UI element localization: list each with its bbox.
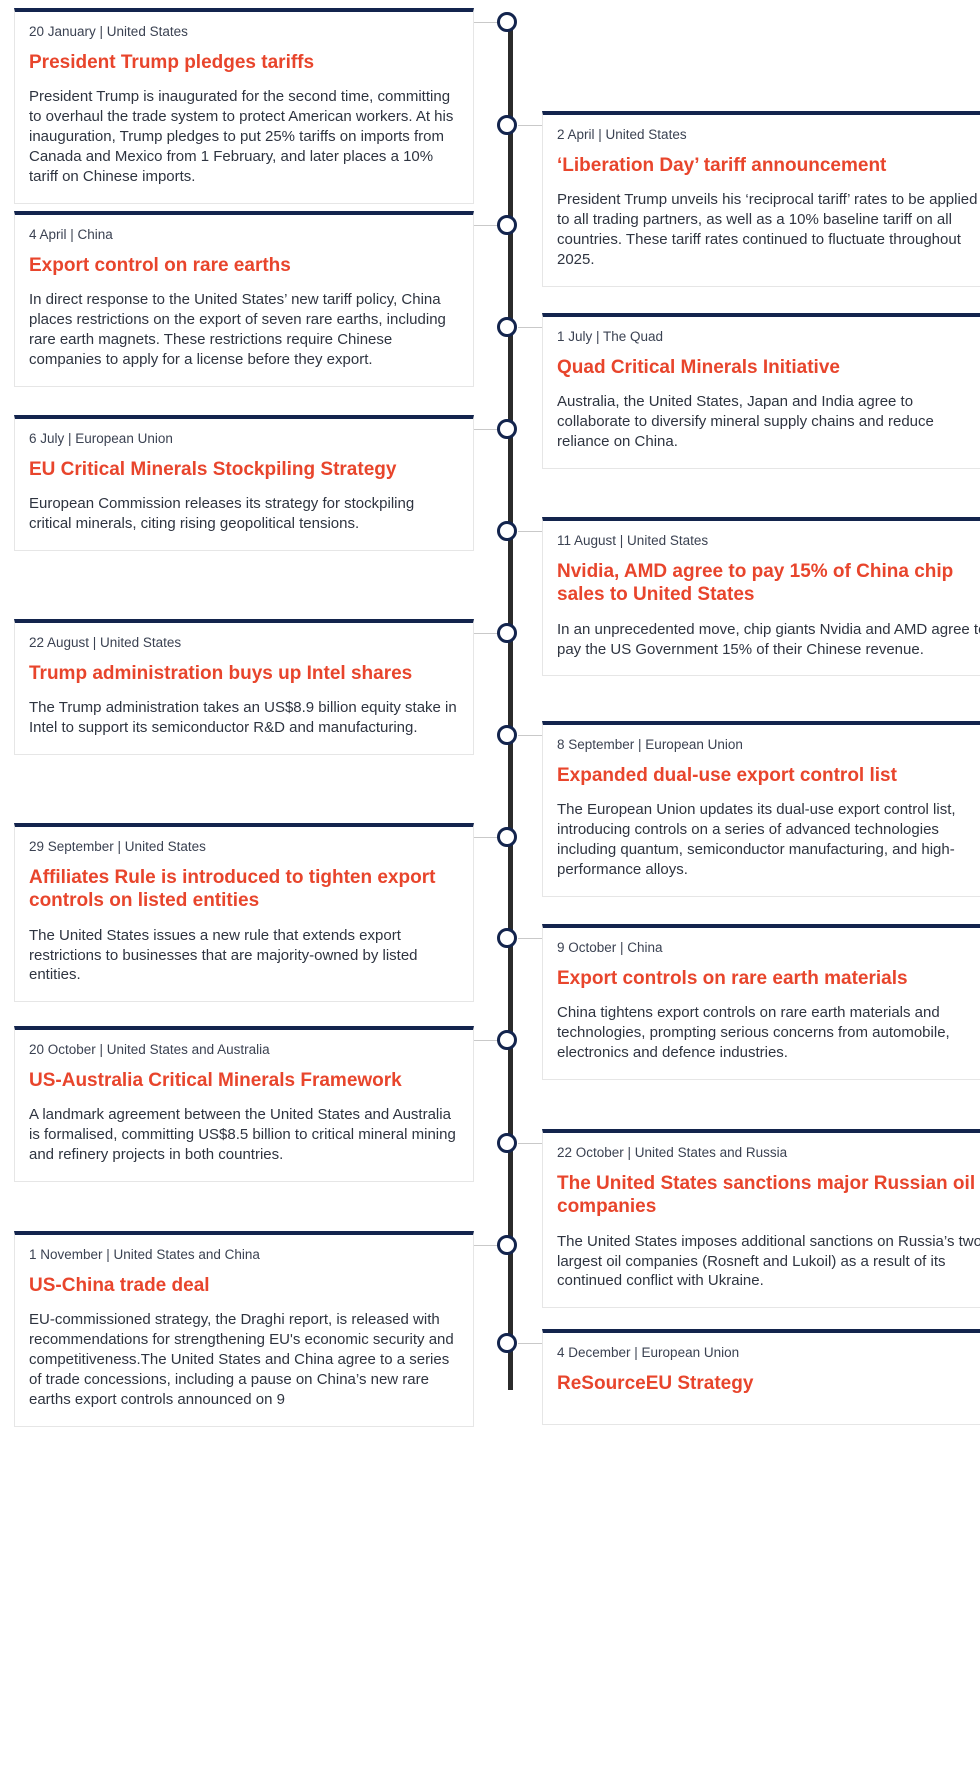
- card-title: Export control on rare earths: [29, 254, 459, 277]
- timeline-card[interactable]: 6 July | European Union EU Critical Mine…: [14, 415, 474, 551]
- timeline-card[interactable]: 2 April | United States ‘Liberation Day’…: [542, 111, 980, 287]
- timeline-card[interactable]: 8 September | European Union Expanded du…: [542, 721, 980, 897]
- timeline-node[interactable]: [497, 419, 517, 439]
- timeline-node[interactable]: [497, 1133, 517, 1153]
- card-body: The Trump administration takes an US$8.9…: [29, 698, 459, 738]
- node-connector: [518, 125, 542, 126]
- timeline-node[interactable]: [497, 827, 517, 847]
- card-title: ‘Liberation Day’ tariff announcement: [557, 154, 980, 177]
- card-body: The United States imposes additional san…: [557, 1232, 980, 1292]
- timeline-node[interactable]: [497, 115, 517, 135]
- timeline-card[interactable]: 1 November | United States and China US-…: [14, 1231, 474, 1427]
- timeline-node[interactable]: [497, 1235, 517, 1255]
- timeline-node[interactable]: [497, 215, 517, 235]
- node-connector: [518, 938, 542, 939]
- timeline-node[interactable]: [497, 317, 517, 337]
- card-meta: 29 September | United States: [29, 838, 459, 856]
- card-meta: 11 August | United States: [557, 532, 980, 550]
- timeline-node[interactable]: [497, 1333, 517, 1353]
- card-body: President Trump unveils his ‘reciprocal …: [557, 190, 980, 270]
- card-title: ReSourceEU Strategy: [557, 1372, 980, 1395]
- timeline-node[interactable]: [497, 12, 517, 32]
- node-connector: [518, 531, 542, 532]
- card-meta: 4 April | China: [29, 226, 459, 244]
- timeline-node[interactable]: [497, 725, 517, 745]
- card-meta: 20 October | United States and Australia: [29, 1041, 459, 1059]
- card-meta: 8 September | European Union: [557, 736, 980, 754]
- timeline-card[interactable]: 1 July | The Quad Quad Critical Minerals…: [542, 313, 980, 469]
- card-body: In direct response to the United States’…: [29, 290, 459, 370]
- card-meta: 22 August | United States: [29, 634, 459, 652]
- node-connector: [474, 22, 498, 23]
- card-title: Expanded dual-use export control list: [557, 764, 980, 787]
- node-connector: [474, 1040, 498, 1041]
- timeline-card[interactable]: 4 April | China Export control on rare e…: [14, 211, 474, 387]
- node-connector: [474, 429, 498, 430]
- card-meta: 20 January | United States: [29, 23, 459, 41]
- card-title: US-Australia Critical Minerals Framework: [29, 1069, 459, 1092]
- card-meta: 9 October | China: [557, 939, 980, 957]
- card-body: In an unprecedented move, chip giants Nv…: [557, 620, 980, 660]
- node-connector: [518, 327, 542, 328]
- timeline-card[interactable]: 20 January | United States President Tru…: [14, 8, 474, 204]
- card-title: President Trump pledges tariffs: [29, 51, 459, 74]
- card-meta: 1 November | United States and China: [29, 1246, 459, 1264]
- trade-policy-timeline: 20 January | United States President Tru…: [0, 0, 980, 1772]
- timeline-card[interactable]: 9 October | China Export controls on rar…: [542, 924, 980, 1080]
- timeline-card[interactable]: 4 December | European Union ReSourceEU S…: [542, 1329, 980, 1425]
- timeline-card[interactable]: 22 October | United States and Russia Th…: [542, 1129, 980, 1308]
- card-body: President Trump is inaugurated for the s…: [29, 87, 459, 187]
- card-body: Australia, the United States, Japan and …: [557, 392, 980, 452]
- card-title: The United States sanctions major Russia…: [557, 1172, 980, 1218]
- card-body: The European Union updates its dual-use …: [557, 800, 980, 880]
- timeline-node[interactable]: [497, 623, 517, 643]
- timeline-card[interactable]: 22 August | United States Trump administ…: [14, 619, 474, 755]
- card-meta: 1 July | The Quad: [557, 328, 980, 346]
- card-title: Affiliates Rule is introduced to tighten…: [29, 866, 459, 912]
- card-meta: 4 December | European Union: [557, 1344, 980, 1362]
- node-connector: [518, 1143, 542, 1144]
- timeline-node[interactable]: [497, 1030, 517, 1050]
- node-connector: [518, 735, 542, 736]
- node-connector: [474, 837, 498, 838]
- card-title: Trump administration buys up Intel share…: [29, 662, 459, 685]
- card-title: Export controls on rare earth materials: [557, 967, 980, 990]
- timeline-node[interactable]: [497, 928, 517, 948]
- card-title: US-China trade deal: [29, 1274, 459, 1297]
- card-meta: 6 July | European Union: [29, 430, 459, 448]
- card-meta: 2 April | United States: [557, 126, 980, 144]
- card-meta: 22 October | United States and Russia: [557, 1144, 980, 1162]
- card-title: Nvidia, AMD agree to pay 15% of China ch…: [557, 560, 980, 606]
- card-title: Quad Critical Minerals Initiative: [557, 356, 980, 379]
- card-body: China tightens export controls on rare e…: [557, 1003, 980, 1063]
- card-body: EU-commissioned strategy, the Draghi rep…: [29, 1310, 459, 1410]
- timeline-card[interactable]: 11 August | United States Nvidia, AMD ag…: [542, 517, 980, 676]
- node-connector: [474, 225, 498, 226]
- card-body: The United States issues a new rule that…: [29, 926, 459, 986]
- node-connector: [518, 1343, 542, 1344]
- card-title: EU Critical Minerals Stockpiling Strateg…: [29, 458, 459, 481]
- card-body: European Commission releases its strateg…: [29, 494, 459, 534]
- timeline-node[interactable]: [497, 521, 517, 541]
- card-body: A landmark agreement between the United …: [29, 1105, 459, 1165]
- node-connector: [474, 633, 498, 634]
- node-connector: [474, 1245, 498, 1246]
- timeline-card[interactable]: 29 September | United States Affiliates …: [14, 823, 474, 1002]
- timeline-card[interactable]: 20 October | United States and Australia…: [14, 1026, 474, 1182]
